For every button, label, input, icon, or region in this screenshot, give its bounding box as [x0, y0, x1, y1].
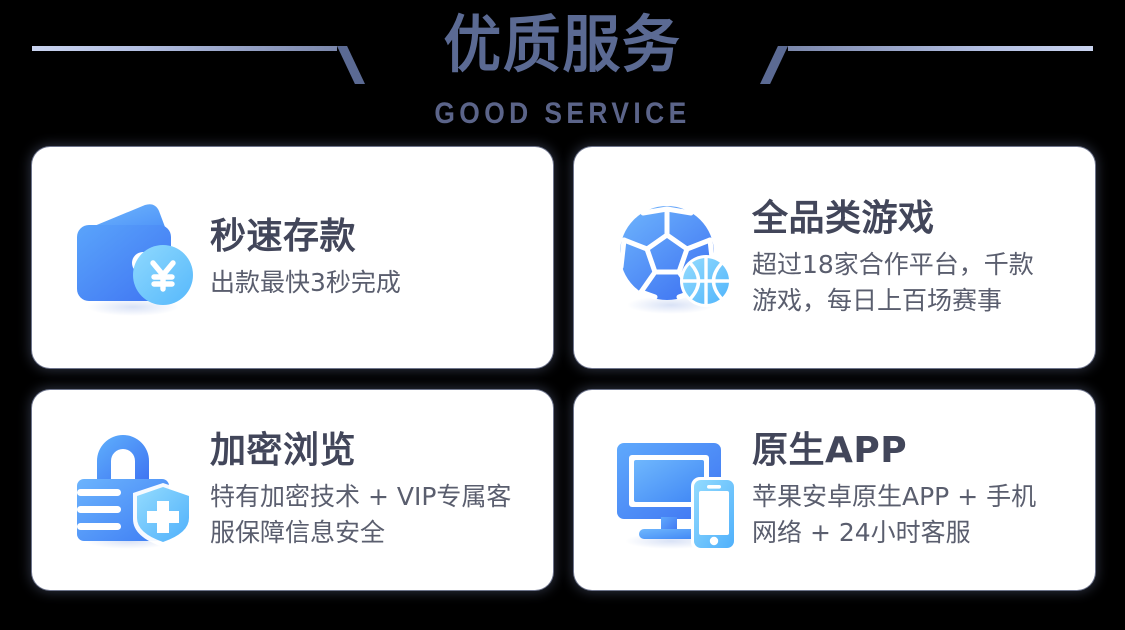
- card-subtitle-line: 网络 + 24小时客服: [752, 515, 1077, 551]
- soccer-basketball-icon: [602, 193, 752, 323]
- service-card-deposit[interactable]: 秒速存款 出款最快3秒完成: [32, 147, 553, 368]
- card-text-block: 秒速存款 出款最快3秒完成: [210, 215, 553, 301]
- card-subtitle-line: 特有加密技术 + VIP专属客: [210, 479, 535, 515]
- card-text-block: 加密浏览 特有加密技术 + VIP专属客 服保障信息安全: [210, 429, 553, 551]
- service-card-grid: 秒速存款 出款最快3秒完成: [32, 147, 1095, 590]
- card-subtitle-line: 苹果安卓原生APP + 手机: [752, 479, 1077, 515]
- monitor-phone-icon: [602, 425, 752, 555]
- card-subtitle: 特有加密技术 + VIP专属客 服保障信息安全: [210, 479, 535, 551]
- card-subtitle-line: 出款最快3秒完成: [210, 265, 535, 301]
- card-subtitle-line: 游戏，每日上百场赛事: [752, 283, 1077, 319]
- card-subtitle: 出款最快3秒完成: [210, 265, 535, 301]
- wallet-yuan-icon: [60, 193, 210, 323]
- card-text-block: 全品类游戏 超过18家合作平台，千款 游戏，每日上百场赛事: [752, 197, 1095, 319]
- lock-shield-icon: [60, 425, 210, 555]
- card-subtitle-line: 超过18家合作平台，千款: [752, 247, 1077, 283]
- card-title: 加密浏览: [210, 429, 535, 473]
- page-subtitle: GOOD SERVICE: [68, 96, 1058, 132]
- card-subtitle: 苹果安卓原生APP + 手机 网络 + 24小时客服: [752, 479, 1077, 551]
- card-title: 全品类游戏: [752, 197, 1077, 241]
- page-root: 优质服务 GOOD SERVICE: [0, 0, 1125, 630]
- service-card-encryption[interactable]: 加密浏览 特有加密技术 + VIP专属客 服保障信息安全: [32, 390, 553, 590]
- card-text-block: 原生APP 苹果安卓原生APP + 手机 网络 + 24小时客服: [752, 429, 1095, 551]
- section-header: 优质服务 GOOD SERVICE: [0, 0, 1125, 140]
- service-card-native-app[interactable]: 原生APP 苹果安卓原生APP + 手机 网络 + 24小时客服: [574, 390, 1095, 590]
- header-line-right: [788, 46, 1093, 51]
- service-card-games[interactable]: 全品类游戏 超过18家合作平台，千款 游戏，每日上百场赛事: [574, 147, 1095, 368]
- card-subtitle-line: 服保障信息安全: [210, 515, 535, 551]
- page-title: 优质服务: [39, 8, 1085, 82]
- card-subtitle: 超过18家合作平台，千款 游戏，每日上百场赛事: [752, 247, 1077, 319]
- card-title: 原生APP: [752, 429, 1077, 473]
- card-title: 秒速存款: [210, 215, 535, 259]
